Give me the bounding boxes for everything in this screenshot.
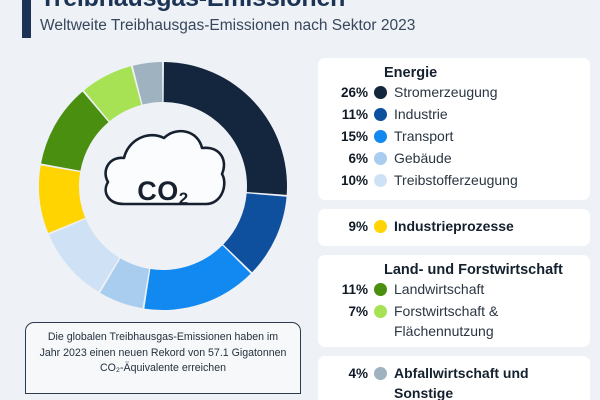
donut-chart: CO2: [37, 60, 289, 312]
legend-item-label: Forstwirtschaft & Flächennutzung: [394, 301, 580, 341]
donut-segments: [39, 62, 287, 310]
legend-color-swatch: [374, 283, 387, 296]
legend-item[interactable]: 15%Transport: [328, 126, 580, 148]
legend-color-swatch: [374, 86, 387, 99]
legend-card: Land- und Forstwirtschaft11%Landwirtscha…: [318, 255, 590, 347]
legend-card: 4%Abfallwirtschaft und Sonstige: [318, 356, 590, 400]
legend-color-swatch: [374, 174, 387, 187]
legend-item-percent: 4%: [328, 363, 368, 384]
accent-bar: [22, 0, 31, 38]
legend-item-label: Treibstofferzeugung: [394, 170, 518, 190]
legend-item-percent: 26%: [328, 82, 368, 103]
header: Treibhausgas-Emissionen Weltweite Treibh…: [0, 0, 600, 50]
donut-chart-svg: [37, 60, 289, 312]
infographic-page: Treibhausgas-Emissionen Weltweite Treibh…: [0, 0, 600, 400]
legend-item[interactable]: 6%Gebäude: [328, 148, 580, 170]
legend-item-percent: 11%: [328, 279, 368, 300]
legend-item-label: Landwirtschaft: [394, 279, 484, 299]
legend-item[interactable]: 11%Industrie: [328, 104, 580, 126]
legend-color-swatch: [374, 108, 387, 121]
legend-color-swatch: [374, 220, 387, 233]
legend-item-label: Abfallwirtschaft und Sonstige: [394, 363, 580, 400]
legend-item[interactable]: 7%Forstwirtschaft & Flächennutzung: [328, 301, 580, 339]
legend-group-title: Land- und Forstwirtschaft: [384, 262, 580, 278]
legend-item-percent: 11%: [328, 104, 368, 125]
legend-item[interactable]: 9%Industrieprozesse: [328, 216, 580, 238]
legend-item[interactable]: 11%Landwirtschaft: [328, 279, 580, 301]
legend-item[interactable]: 4%Abfallwirtschaft und Sonstige: [328, 363, 580, 400]
legend-item[interactable]: 26%Stromerzeugung: [328, 82, 580, 104]
page-title: Treibhausgas-Emissionen: [40, 0, 345, 13]
footnote-box: Die globalen Treibhausgas-Emissionen hab…: [25, 322, 301, 394]
legend-color-swatch: [374, 367, 387, 380]
legend-card: 9%Industrieprozesse: [318, 209, 590, 246]
legend-group-title: Energie: [384, 65, 580, 81]
legend-item[interactable]: 10%Treibstofferzeugung: [328, 170, 580, 192]
legend-color-swatch: [374, 130, 387, 143]
legend-item-percent: 10%: [328, 170, 368, 191]
legend: Energie26%Stromerzeugung11%Industrie15%T…: [318, 58, 590, 400]
legend-item-percent: 9%: [328, 216, 368, 237]
legend-card: Energie26%Stromerzeugung11%Industrie15%T…: [318, 58, 590, 200]
legend-item-label: Industrieprozesse: [394, 216, 514, 236]
legend-item-label: Gebäude: [394, 148, 452, 168]
legend-item-label: Stromerzeugung: [394, 82, 498, 102]
legend-color-swatch: [374, 152, 387, 165]
donut-slice[interactable]: [164, 62, 287, 195]
legend-item-label: Industrie: [394, 104, 448, 124]
legend-item-percent: 15%: [328, 126, 368, 147]
legend-item-percent: 7%: [328, 301, 368, 322]
legend-item-label: Transport: [394, 126, 453, 146]
legend-color-swatch: [374, 305, 387, 318]
page-subtitle: Weltweite Treibhausgas-Emissionen nach S…: [40, 17, 415, 35]
legend-item-percent: 6%: [328, 148, 368, 169]
